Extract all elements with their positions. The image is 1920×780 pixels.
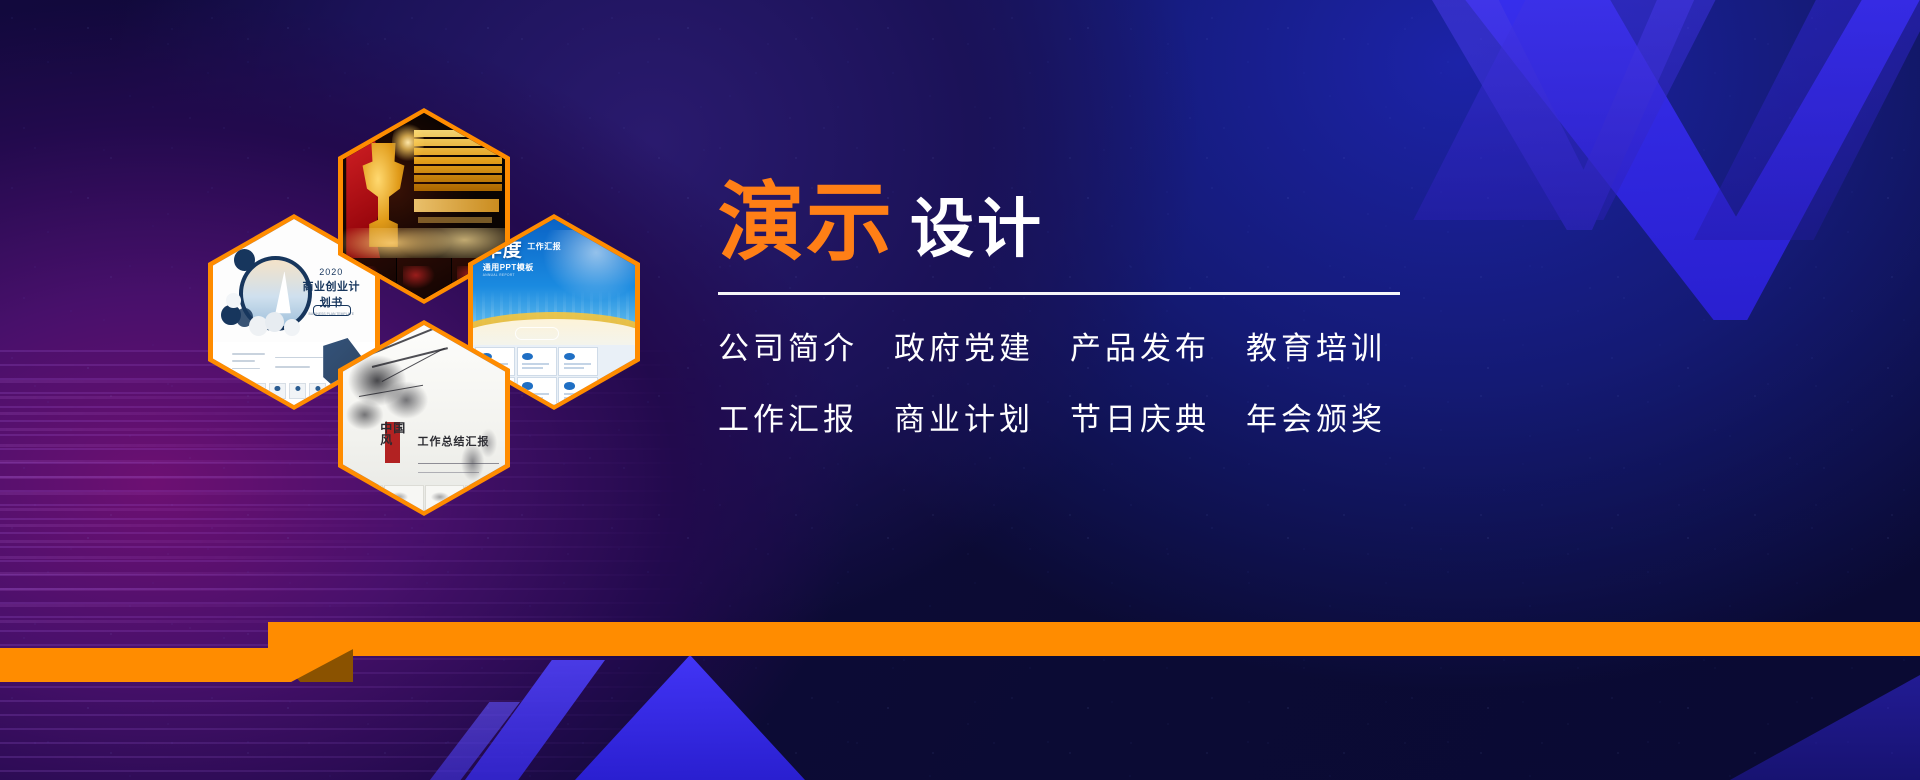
mini-card	[289, 383, 306, 400]
keyword-company-intro[interactable]: 公司简介	[718, 323, 858, 368]
china-style-seal-text: 中国风	[380, 422, 416, 446]
text-line	[232, 360, 255, 362]
banner-stage: 2020 商业创业计划书 BUSINESS PLAN TEMPLATE	[0, 0, 1920, 780]
china-style-slide: 中国风 工作总结汇报	[343, 325, 505, 511]
annual-report-english: ANNUAL REPORT	[483, 273, 626, 277]
mini-slide	[517, 377, 557, 405]
keyword-row-1: 公司简介 政府党建 产品发布 教育培训	[718, 323, 1418, 368]
mini-slide	[517, 347, 557, 375]
decor-dot	[234, 249, 255, 271]
keyword-product-launch[interactable]: 产品发布	[1070, 323, 1210, 368]
keyword-education-training[interactable]: 教育培训	[1246, 323, 1386, 368]
award-subtitle-bar-2	[418, 217, 493, 223]
text-line	[232, 353, 264, 355]
gold-wave-graphic	[343, 228, 505, 258]
business-plan-year: 2020	[297, 267, 365, 277]
orange-ribbon-bar	[268, 622, 1920, 656]
headline-divider	[718, 292, 1400, 295]
annual-report-text: 年度 工作汇报 通用PPT模板 ANNUAL REPORT	[483, 241, 626, 277]
keyword-row-2: 工作汇报 商业计划 节日庆典 年会颁奖	[718, 394, 1418, 439]
keyword-party-building[interactable]: 政府党建	[894, 323, 1034, 368]
business-plan-pill	[313, 305, 351, 316]
keyword-annual-award[interactable]: 年会颁奖	[1246, 394, 1386, 439]
keyword-festival[interactable]: 节日庆典	[1070, 394, 1210, 439]
business-plan-card-row	[249, 383, 327, 400]
annual-report-line1: 工作汇报	[527, 241, 561, 252]
decor-dot	[226, 293, 241, 308]
decor-dot	[284, 319, 300, 336]
mini-slide	[558, 347, 598, 375]
mini-card	[249, 383, 266, 400]
headline: 演示 设计	[718, 180, 1418, 266]
sailboat-icon	[274, 271, 291, 315]
text-line	[275, 366, 311, 368]
headline-accent: 演示	[718, 180, 894, 266]
annual-report-line2: 通用PPT模板	[483, 262, 626, 273]
keyword-business-plan[interactable]: 商业计划	[894, 394, 1034, 439]
award-subtitle-bar	[414, 199, 498, 212]
banner-copy-block: 演示 设计 公司简介 政府党建 产品发布 教育培训 工作汇报 商业计划 节日庆典…	[718, 180, 1418, 439]
award-title-gold	[414, 130, 501, 191]
mini-slide	[397, 258, 450, 299]
mini-card	[269, 383, 286, 400]
keyword-work-report[interactable]: 工作汇报	[718, 394, 858, 439]
annual-report-button	[515, 327, 559, 340]
headline-plain: 设计	[910, 198, 1044, 262]
hexagon-thumbnail-cluster: 2020 商业创业计划书 BUSINESS PLAN TEMPLATE	[190, 108, 660, 478]
mini-card	[309, 383, 326, 400]
text-line	[275, 357, 324, 359]
mini-slide	[558, 377, 598, 405]
